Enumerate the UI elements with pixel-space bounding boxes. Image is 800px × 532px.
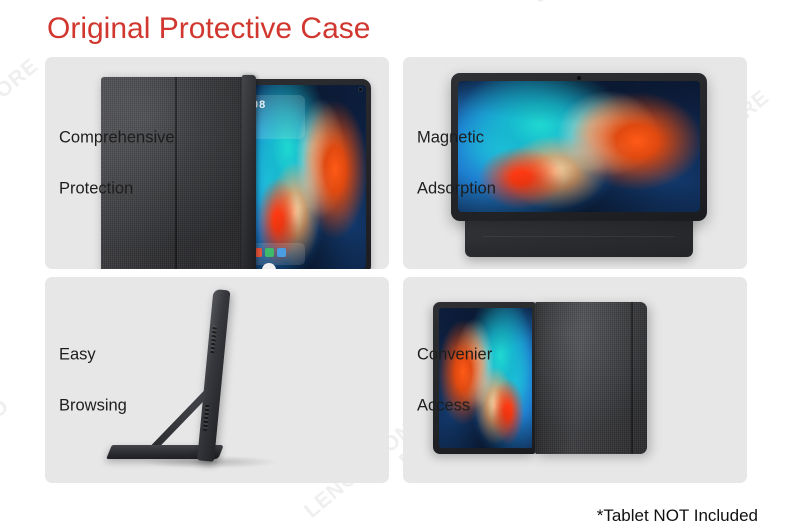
watermark-text: NOVO O	[0, 394, 14, 470]
panel-caption-comprehensive-protection: Comprehensive Protection	[59, 130, 175, 197]
panel-caption-magnetic-adsorption: Magnetic Adsorption	[417, 130, 496, 197]
watermark-text: VO ONLINE	[525, 0, 636, 10]
tablet-device-side-profile	[197, 289, 230, 462]
caption-line-1: Convenier	[417, 347, 492, 364]
caption-line-2: Access	[417, 397, 492, 414]
panel-caption-convenient-access: Convenier Access	[417, 347, 492, 414]
caption-line-2: Browsing	[59, 397, 127, 414]
app-icon-green	[265, 248, 274, 257]
caption-line-1: Magnetic	[417, 130, 496, 147]
caption-line-1: Comprehensive	[59, 130, 175, 147]
caption-line-1: Easy	[59, 347, 127, 364]
app-icon-blue	[277, 248, 286, 257]
feature-panel-grid: 08 Comprehensive Protection Magnetic Ads…	[45, 57, 759, 483]
feature-panel-comprehensive-protection: 08 Comprehensive Protection	[45, 57, 389, 269]
case-spine-fold	[242, 75, 256, 269]
front-camera-icon	[359, 88, 362, 91]
feature-panel-easy-browsing: Easy Browsing	[45, 277, 389, 483]
footnote-disclaimer: *Tablet NOT Included	[597, 506, 758, 526]
caption-line-2: Protection	[59, 180, 175, 197]
front-camera-icon	[577, 76, 581, 80]
panel-caption-easy-browsing: Easy Browsing	[59, 347, 127, 414]
page-title: Original Protective Case	[47, 12, 370, 46]
caption-line-2: Adsorption	[417, 180, 496, 197]
tablet-device-portrait: 08	[241, 79, 371, 269]
watermark-text: NE STORE	[0, 54, 43, 146]
case-cover-folded-back	[535, 302, 647, 454]
feature-panel-magnetic-adsorption: Magnetic Adsorption	[403, 57, 747, 269]
feature-panel-convenient-access: Convenier Access	[403, 277, 747, 483]
